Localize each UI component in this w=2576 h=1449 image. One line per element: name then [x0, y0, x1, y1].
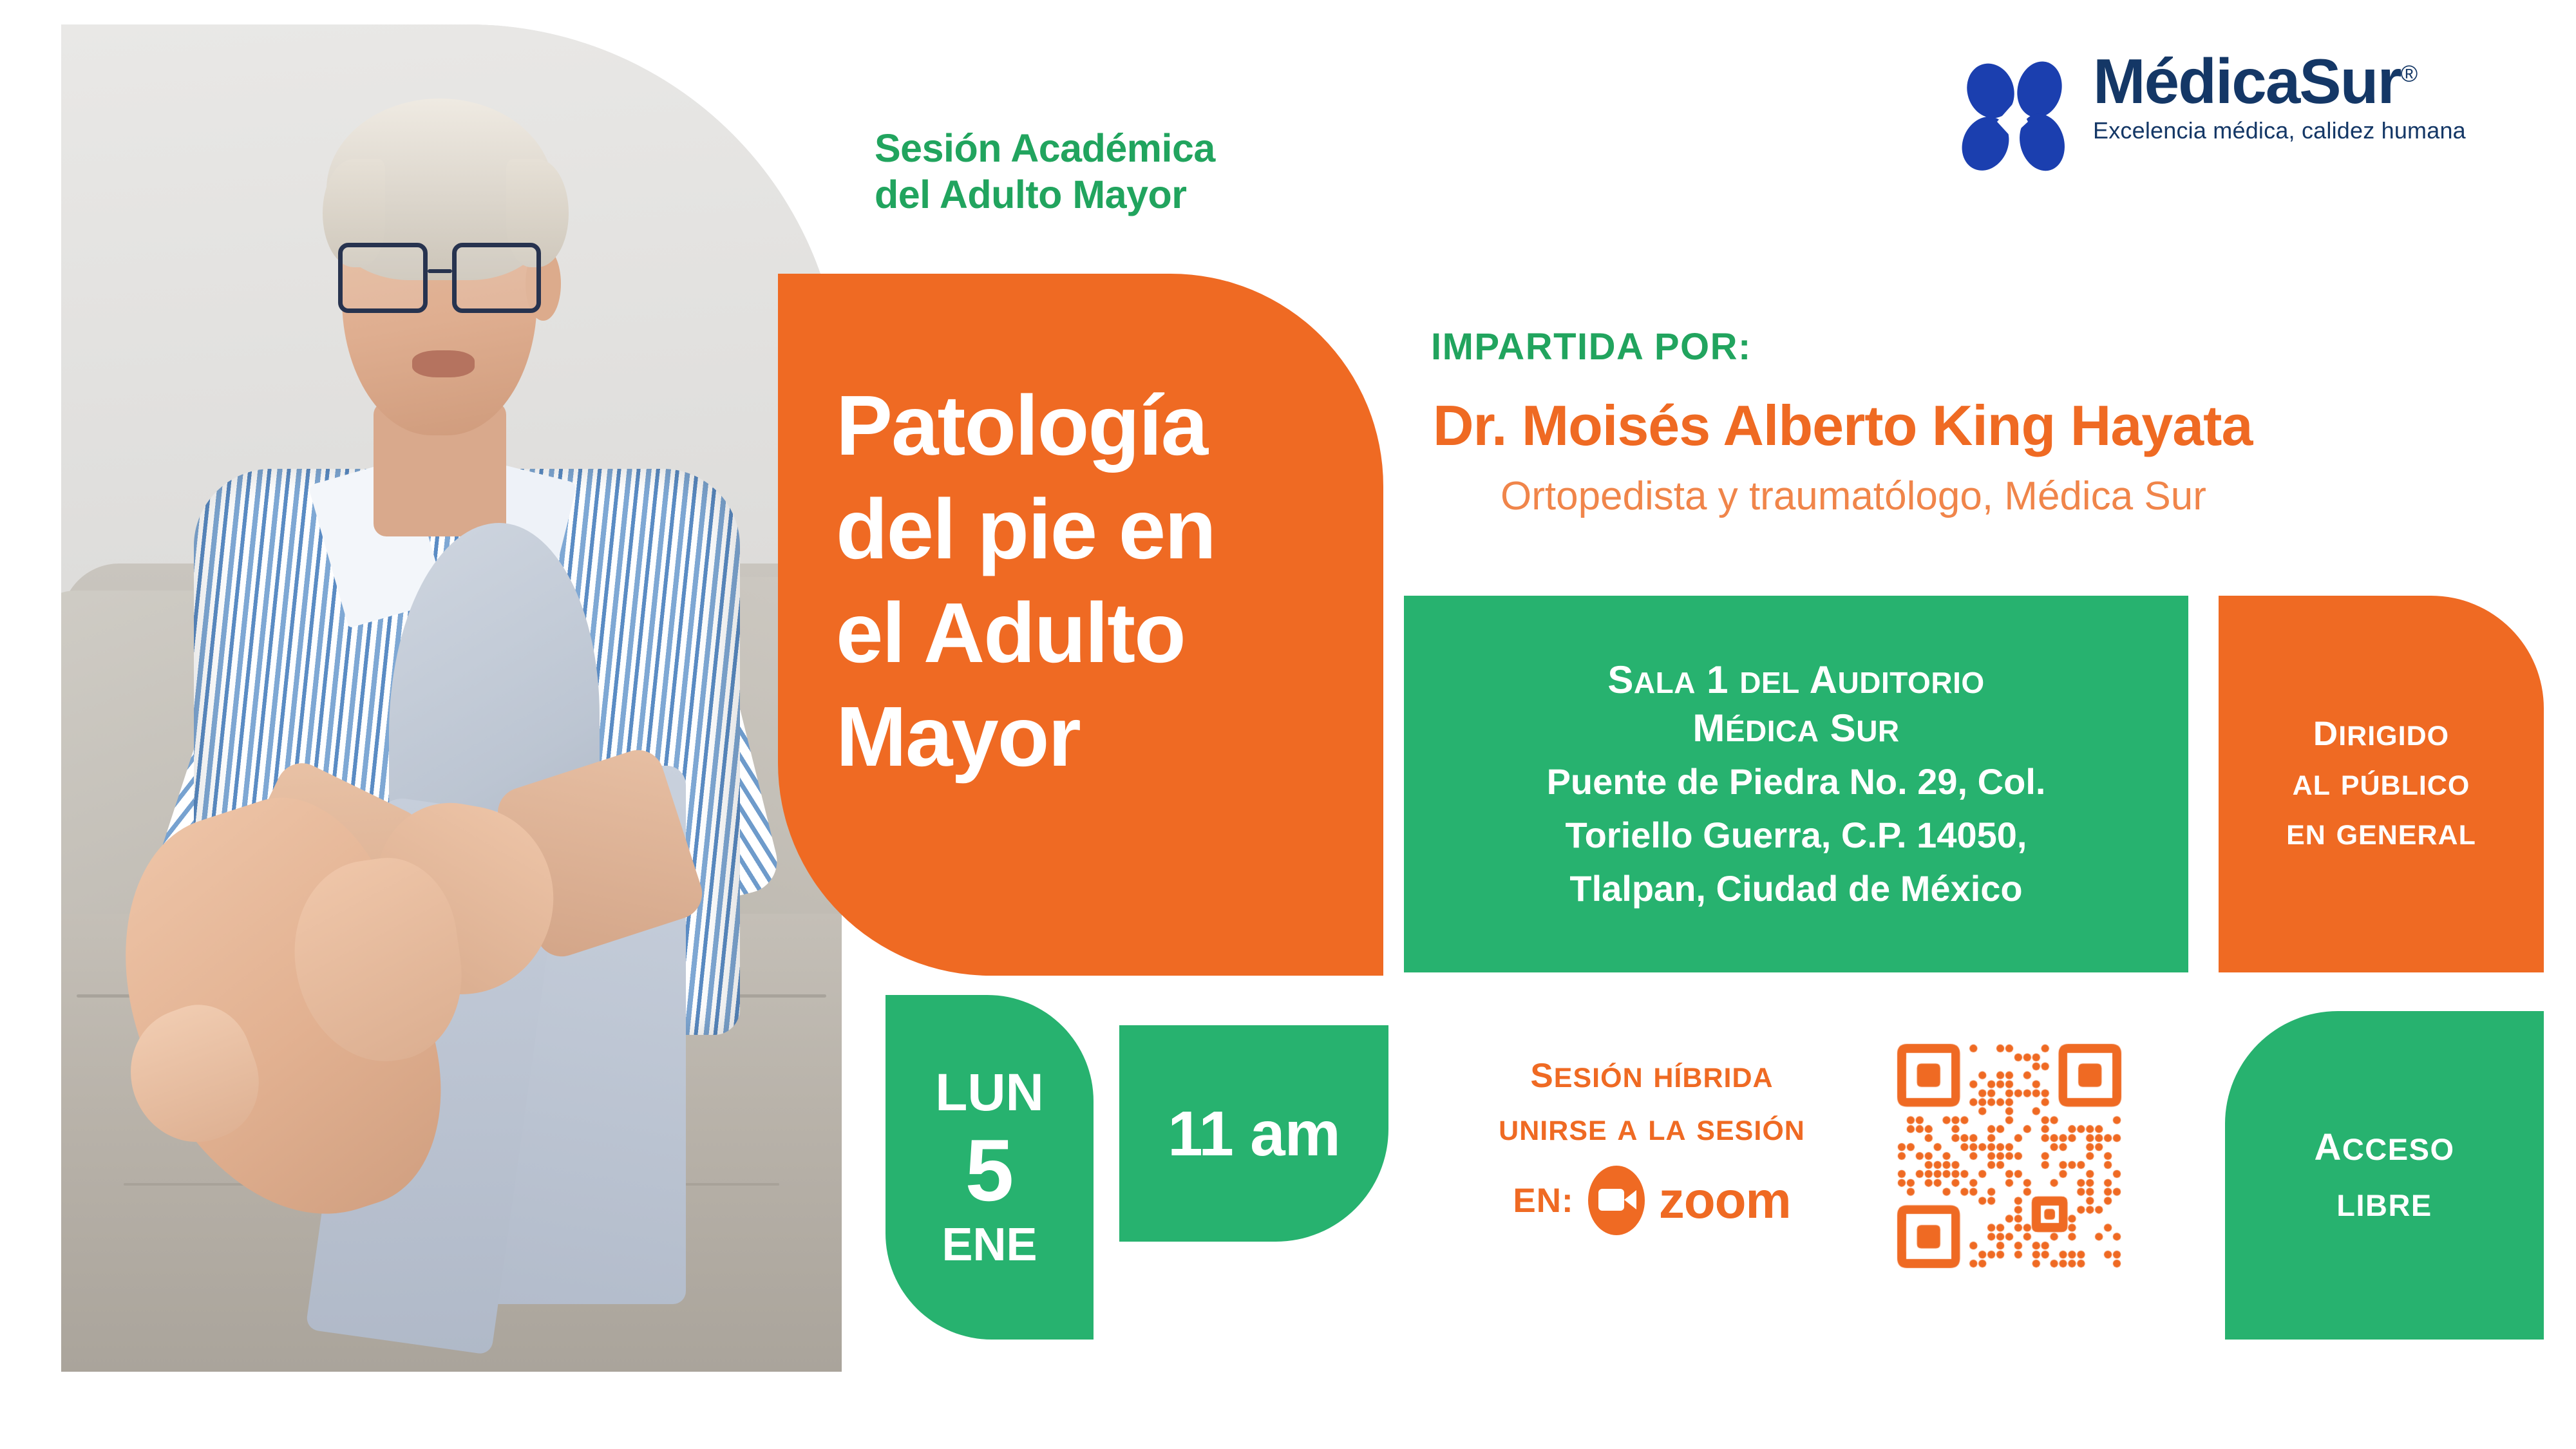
- medicasur-logo: MédicaSur® Excelencia médica, calidez hu…: [1961, 48, 2528, 187]
- hybrid-line-1: SESIÓN HÍBRIDA: [1426, 1050, 1877, 1103]
- zoom-camera-body: [1598, 1189, 1624, 1211]
- photo-mouth: [412, 350, 475, 377]
- date-month: ENE: [942, 1222, 1037, 1268]
- hybrid-prefix: EN:: [1513, 1181, 1573, 1220]
- session-kicker: Sesión Académica del Adulto Mayor: [875, 126, 1454, 218]
- zoom-camera-lens: [1624, 1190, 1636, 1209]
- poster-canvas: Sesión Académica del Adulto Mayor Patolo…: [0, 0, 2576, 1449]
- photo-glasses-bridge: [428, 269, 452, 273]
- time-value: 11 am: [1168, 1097, 1340, 1170]
- venue-hall: SALA 1 DEL AUDITORIO: [1607, 656, 1984, 704]
- speaker-role: Ortopedista y traumatólogo, Médica Sur: [1501, 473, 2531, 519]
- access-line-1: ACCESO: [2314, 1119, 2454, 1175]
- zoom-camera-icon: [1588, 1166, 1645, 1235]
- zoom-wordmark: zoom: [1659, 1175, 1791, 1226]
- kicker-line-2: del Adulto Mayor: [875, 172, 1454, 218]
- logo-tagline: Excelencia médica, calidez humana: [2093, 117, 2466, 144]
- logo-name: MédicaSur®: [2093, 48, 2466, 115]
- photo-illustration: [61, 24, 842, 1372]
- title-line-2: del pie en: [836, 477, 1351, 581]
- title-block: Patología del pie en el Adulto Mayor: [778, 274, 1383, 976]
- medicasur-flower-icon: [1961, 60, 2077, 179]
- zoom-row[interactable]: EN: zoom: [1426, 1166, 1877, 1235]
- access-line-2: LIBRE: [2336, 1175, 2432, 1231]
- title-line-1: Patología: [836, 374, 1351, 477]
- audience-line-1: DIRIGIDO: [2313, 710, 2449, 759]
- time-badge: 11 am: [1119, 1025, 1388, 1242]
- title-line-4: Mayor: [836, 685, 1351, 788]
- venue-box: SALA 1 DEL AUDITORIO MÉDICA SUR Puente d…: [1404, 596, 2188, 972]
- venue-address-line-1: Puente de Piedra No. 29, Col.: [1547, 759, 2046, 806]
- hero-photo: [61, 24, 842, 1372]
- photo-eyeglasses: [338, 243, 541, 313]
- access-box: ACCESO LIBRE: [2225, 1011, 2544, 1340]
- hybrid-session-block: SESIÓN HÍBRIDA UNIRSE A LA SESIÓN EN: zo…: [1426, 1050, 1877, 1235]
- hybrid-line-2: UNIRSE A LA SESIÓN: [1426, 1103, 1877, 1155]
- audience-box: DIRIGIDO AL PÚBLICO EN GENERAL: [2219, 596, 2544, 972]
- date-badge: LUN 5 ENE: [885, 995, 1094, 1340]
- photo-lens-right: [452, 243, 542, 313]
- kicker-line-1: Sesión Académica: [875, 126, 1454, 172]
- venue-building: MÉDICA SUR: [1692, 704, 1899, 752]
- registered-mark: ®: [2401, 60, 2417, 86]
- venue-address-line-3: Tlalpan, Ciudad de México: [1569, 866, 2022, 913]
- logo-text-group: MédicaSur® Excelencia médica, calidez hu…: [2093, 48, 2466, 144]
- qr-code[interactable]: [1893, 1040, 2125, 1294]
- audience-line-3: EN GENERAL: [2286, 809, 2476, 858]
- date-day-number: 5: [965, 1124, 1014, 1217]
- title-line-3: el Adulto: [836, 581, 1351, 685]
- photo-lens-left: [338, 243, 428, 313]
- date-day-of-week: LUN: [935, 1066, 1044, 1119]
- qr-code-canvas[interactable]: [1893, 1040, 2125, 1294]
- venue-address-line-2: Toriello Guerra, C.P. 14050,: [1566, 812, 2027, 859]
- imparted-by-label: IMPARTIDA POR:: [1431, 325, 1752, 368]
- speaker-name: Dr. Moisés Alberto King Hayata: [1433, 393, 2541, 459]
- page-title: Patología del pie en el Adulto Mayor: [836, 374, 1351, 788]
- audience-line-2: AL PÚBLICO: [2293, 759, 2470, 809]
